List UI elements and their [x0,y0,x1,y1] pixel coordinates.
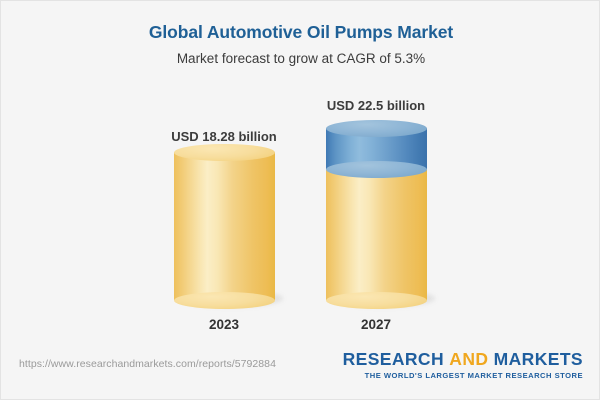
bar-value-label-2023: USD 18.28 billion [124,129,324,144]
chart-footer: https://www.researchandmarkets.com/repor… [1,344,600,399]
brand-tagline: THE WORLD'S LARGEST MARKET RESEARCH STOR… [343,371,583,380]
bar-bottom-ellipse-2027 [326,292,427,309]
bar-body-2023 [174,152,275,300]
brand-word-research: RESEARCH [343,349,444,369]
bar-cylinder-2023[interactable] [174,144,275,308]
bar-value-label-2027: USD 22.5 billion [276,98,476,113]
brand-word-and: AND [449,349,488,369]
chart-plot-area: USD 18.28 billion 2023 USD 22.5 billion [1,1,600,346]
bar-segment-base-2023 [174,144,275,308]
brand-logo[interactable]: RESEARCH AND MARKETS THE WORLD'S LARGEST… [343,349,583,380]
bar-top-ellipse-2023 [174,144,275,161]
chart-canvas: Global Automotive Oil Pumps Market Marke… [0,0,600,400]
axis-tick-label-2027: 2027 [276,317,476,332]
bar-bottom-ellipse-2023 [174,292,275,309]
source-url-link[interactable]: https://www.researchandmarkets.com/repor… [19,358,276,370]
brand-wordmark: RESEARCH AND MARKETS [343,349,583,370]
bar-top-ellipse-2027 [326,120,427,137]
bar-segment-growth-2027 [326,120,427,177]
bar-cylinder-2027[interactable] [326,120,427,308]
bar-growth-bottom-ellipse-2027 [326,161,427,178]
brand-word-markets: MARKETS [494,349,583,369]
